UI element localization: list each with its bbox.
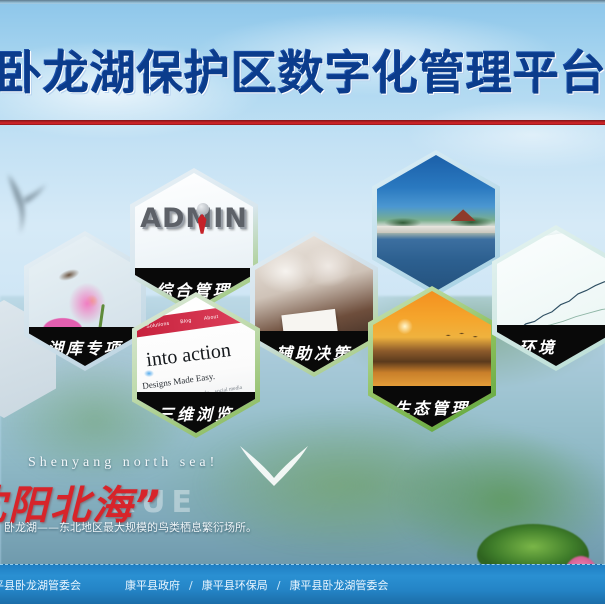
footer-owner: 康平县卧龙湖管委会 xyxy=(0,577,81,593)
footer-separator-1: / xyxy=(189,579,193,592)
page-root: 卧龙湖保护区数字化管理平台 湖库专项 ADMIN xyxy=(0,0,605,604)
module-label: 三维浏览 xyxy=(137,392,255,433)
footer-link-committee[interactable]: 康平县卧龙湖管委会 xyxy=(289,577,388,593)
header-divider xyxy=(0,120,605,125)
web-headline: into action xyxy=(145,337,251,372)
module-label: 生态管理 xyxy=(373,386,491,427)
footer-links: 康平县政府 / 康平县环保局 / 康平县卧龙湖管委会 xyxy=(125,577,388,593)
caption-note: 卧龙湖——东北地区最大规模的鸟类栖息繁衍场所。 xyxy=(4,519,257,535)
page-footer: 康平县卧龙湖管委会 康平县政府 / 康平县环保局 / 康平县卧龙湖管委会 xyxy=(0,564,605,604)
module-decision-support[interactable]: 辅助决策 xyxy=(250,231,378,377)
module-environmental-monitoring[interactable]: 环境 xyxy=(492,225,605,371)
module-label: 辅助决策 xyxy=(255,331,373,372)
module-label: 环境 xyxy=(497,325,605,366)
page-header: 卧龙湖保护区数字化管理平台 xyxy=(0,0,605,124)
pavilion-lake-icon xyxy=(377,155,495,291)
footer-link-government[interactable]: 康平县政府 xyxy=(125,577,180,593)
decor-hex-scenic-pavilion[interactable] xyxy=(372,150,500,296)
footer-separator-2: / xyxy=(277,579,281,592)
caption-english: Shenyang north sea! xyxy=(28,455,218,471)
page-title: 卧龙湖保护区数字化管理平台 xyxy=(0,46,605,100)
footer-link-epb[interactable]: 康平县环保局 xyxy=(202,577,268,593)
module-three-d-browse[interactable]: SolutionsBlog AboutCo into action Design… xyxy=(132,292,260,438)
web-nav-bar: SolutionsBlog AboutCo xyxy=(137,301,255,337)
admin-graphic-text: ADMIN xyxy=(135,203,253,234)
module-ecological-management[interactable]: 生态管理 xyxy=(368,286,496,432)
module-comprehensive-management[interactable]: ADMIN 综合管理 xyxy=(130,168,258,314)
